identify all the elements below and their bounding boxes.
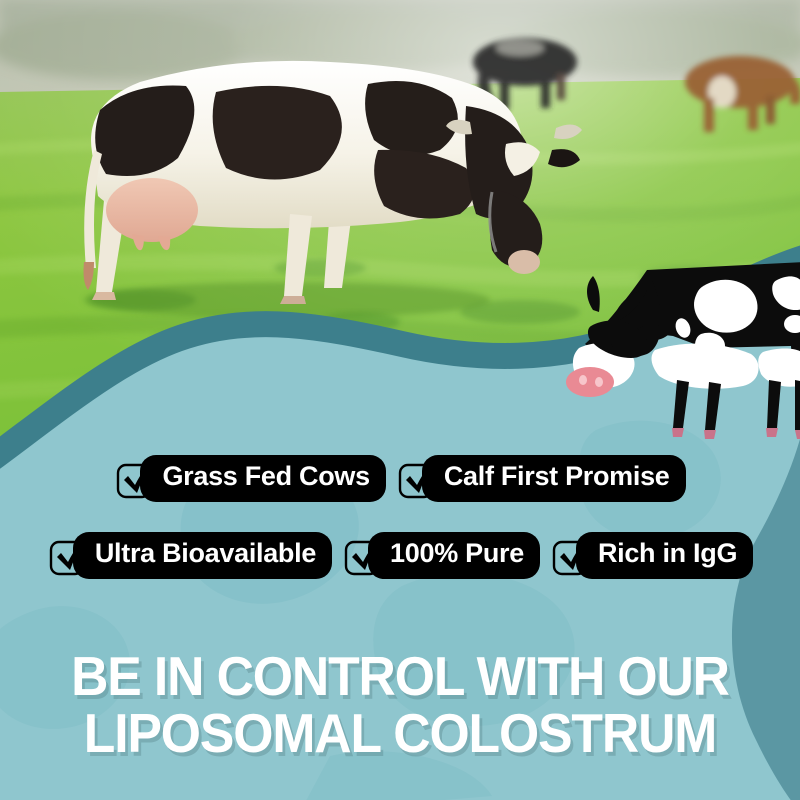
badge-calf-first-promise[interactable]: Calf First Promise [396,455,686,502]
badge-row-2: Ultra Bioavailable 100% Pure [0,532,800,579]
marketing-banner: Grass Fed Cows Calf First Promise [0,0,800,800]
checkbox-checked-icon [47,532,93,578]
headline-line-1: BE IN CONTROL WITH OUR [24,648,776,705]
cow-mascot-svg [555,262,800,447]
badge-label: Calf First Promise [422,455,686,502]
checkbox-checked-icon [396,455,442,501]
cow-hoof [766,428,778,437]
badge-label: 100% Pure [368,532,540,579]
badge-rich-in-igg[interactable]: Rich in IgG [550,532,753,579]
badge-label: Rich in IgG [576,532,753,579]
checkbox-checked-icon [342,532,388,578]
badge-label: Grass Fed Cows [140,455,385,502]
badge-grass-fed-cows[interactable]: Grass Fed Cows [114,455,385,502]
cow-hoof [704,430,716,439]
checkbox-checked-icon [114,455,160,501]
headline-line-2: LIPOSOMAL COLOSTRUM [24,705,776,762]
headline: BE IN CONTROL WITH OUR LIPOSOMAL COLOSTR… [24,648,776,762]
badge-row-1: Grass Fed Cows Calf First Promise [0,455,800,502]
cow-snout [566,367,614,397]
feature-badges: Grass Fed Cows Calf First Promise [0,455,800,579]
badge-100-percent-pure[interactable]: 100% Pure [342,532,540,579]
cow-mascot [555,262,800,447]
badge-label: Ultra Bioavailable [73,532,332,579]
checkbox-checked-icon [550,532,596,578]
cow-hoof [795,430,800,439]
badge-ultra-bioavailable[interactable]: Ultra Bioavailable [47,532,332,579]
cow-hoof [672,428,684,437]
